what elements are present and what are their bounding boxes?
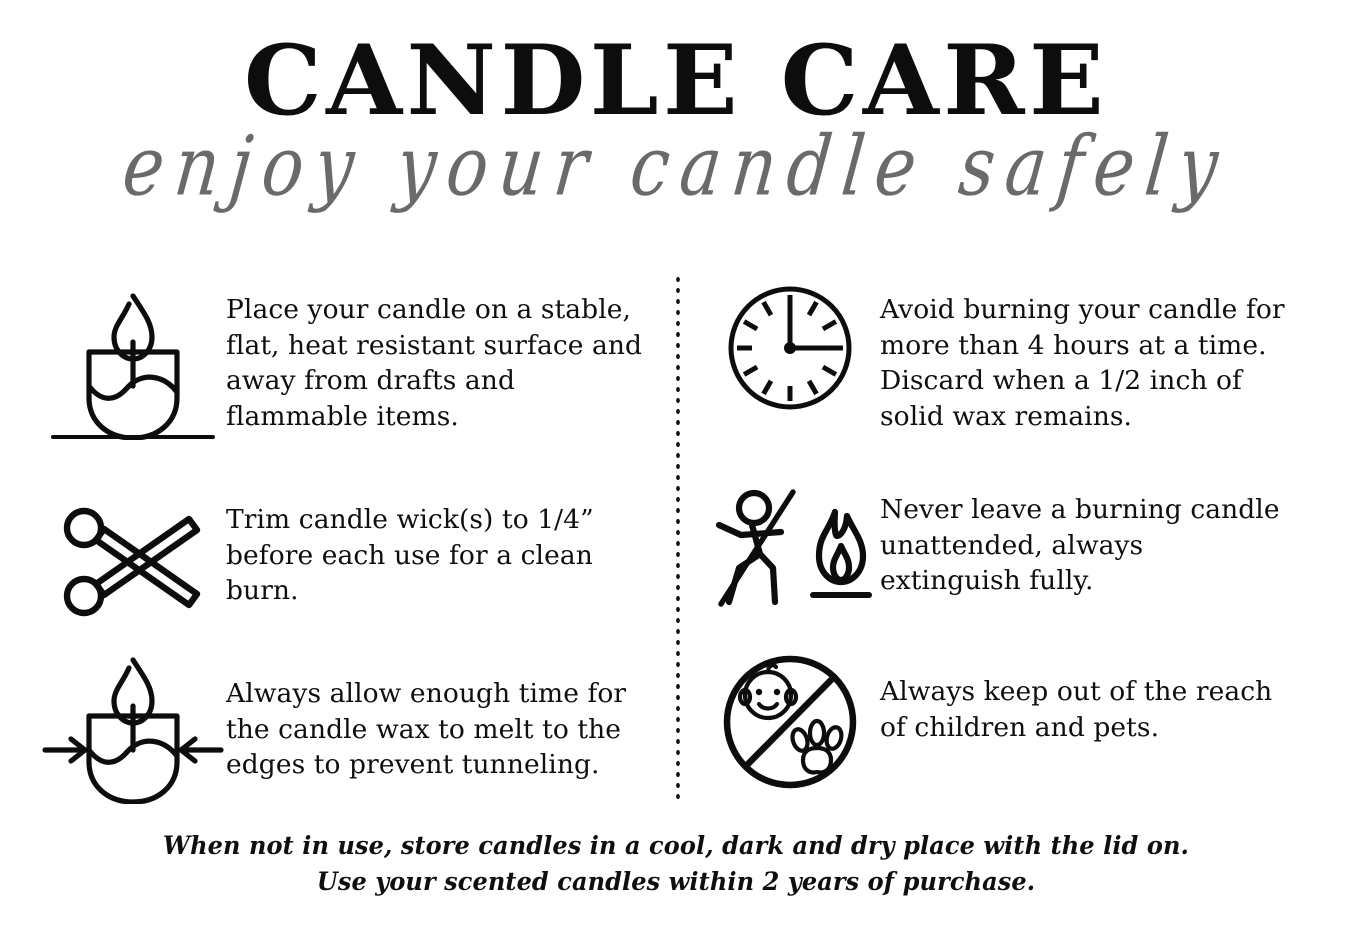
- tip-item: Avoid burning your candle for more than …: [700, 280, 1312, 434]
- tip-text: Always keep out of the reach of children…: [880, 652, 1292, 745]
- page-subtitle: enjoy your candle safely: [8, 116, 1343, 215]
- tip-item: Always keep out of the reach of children…: [700, 652, 1312, 792]
- tips-column-right: Avoid burning your candle for more than …: [700, 272, 1312, 802]
- candle-care-card: CANDLE CARE enjoy your candle safely: [0, 0, 1352, 944]
- no-children-no-pets-icon: [700, 652, 880, 792]
- candle-with-inward-arrows-icon: [40, 654, 226, 804]
- candle-in-jar-on-flat-surface-icon: [40, 280, 226, 440]
- tip-item: Never leave a burning candle unattended,…: [700, 484, 1312, 608]
- footer-line-2: Use your scented candles within 2 years …: [27, 864, 1325, 900]
- tip-item: Trim candle wick(s) to 1/4” before each …: [40, 494, 660, 622]
- page-title: CANDLE CARE: [0, 32, 1352, 130]
- person-leaving-fire-icon: [700, 484, 880, 608]
- tips-grid: Place your candle on a stable, flat, hea…: [0, 272, 1352, 802]
- footer: When not in use, store candles in a cool…: [0, 828, 1352, 900]
- tip-text: Avoid burning your candle for more than …: [880, 280, 1292, 434]
- clock-icon: [700, 280, 880, 412]
- tip-item: Place your candle on a stable, flat, hea…: [40, 280, 660, 440]
- tip-item: Always allow enough time for the candle …: [40, 654, 660, 804]
- tip-text: Always allow enough time for the candle …: [226, 654, 646, 783]
- tips-column-left: Place your candle on a stable, flat, hea…: [40, 272, 660, 802]
- header: CANDLE CARE enjoy your candle safely: [0, 32, 1352, 208]
- footer-line-1: When not in use, store candles in a cool…: [27, 828, 1325, 864]
- tip-text: Trim candle wick(s) to 1/4” before each …: [226, 494, 646, 609]
- tip-text: Place your candle on a stable, flat, hea…: [226, 280, 646, 434]
- tip-text: Never leave a burning candle unattended,…: [880, 484, 1292, 599]
- scissors-icon: [40, 494, 226, 622]
